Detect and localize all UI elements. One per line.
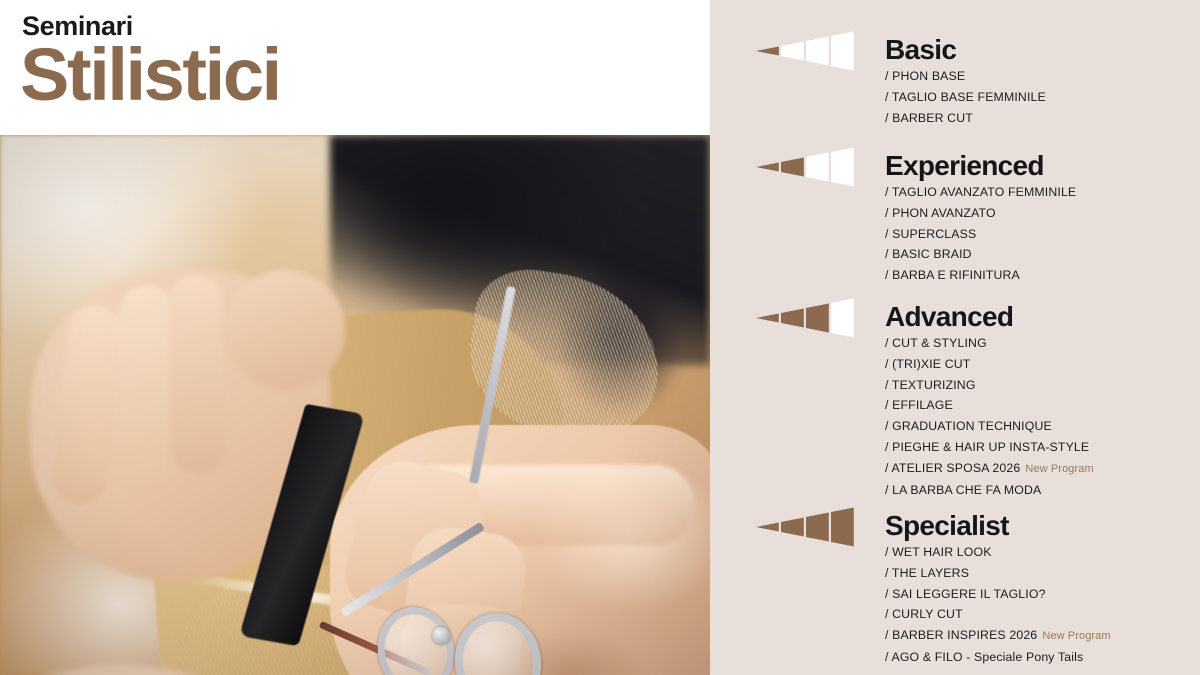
level-segment [806, 36, 829, 65]
left-column: Seminari Stilistici [0, 0, 710, 675]
level-segment [756, 313, 779, 322]
level-segment [756, 522, 779, 531]
new-program-badge: New Program [1042, 630, 1110, 642]
level-segment [831, 147, 854, 186]
photo-vignette [0, 135, 710, 675]
level-segment [781, 308, 804, 327]
course-item[interactable]: / PIEGHE & HAIR UP INSTA-STYLE [885, 437, 1094, 458]
title-block: Seminari Stilistici [0, 0, 710, 135]
level-segment [806, 512, 829, 541]
course-levels-panel: Basic/ PHON BASE/ TAGLIO BASE FEMMINILE/… [710, 0, 1200, 675]
slash-marker: / [885, 566, 892, 580]
course-item-label: CURLY CUT [892, 607, 963, 621]
course-item-label: TAGLIO AVANZATO FEMMINILE [892, 185, 1076, 199]
course-item[interactable]: / PHON BASE [885, 66, 1046, 87]
level-segment [831, 507, 854, 546]
slash-marker: / [885, 378, 892, 392]
course-item[interactable]: / BARBA E RIFINITURA [885, 265, 1076, 286]
course-item-label: BARBER INSPIRES 2026 [892, 628, 1037, 642]
course-item[interactable]: / GRADUATION TECHNIQUE [885, 416, 1094, 437]
course-item[interactable]: / SAI LEGGERE IL TAGLIO? [885, 584, 1111, 605]
level-segment [831, 298, 854, 337]
course-item-label: TAGLIO BASE FEMMINILE [892, 90, 1046, 104]
level-segment [781, 517, 804, 536]
course-item[interactable]: / TEXTURIZING [885, 375, 1094, 396]
course-item[interactable]: / BARBER CUT [885, 108, 1046, 129]
slide-root: Seminari Stilistici [0, 0, 1200, 675]
course-item-label: GRADUATION TECHNIQUE [892, 419, 1052, 433]
course-item-label: AGO & FILO - Speciale Pony Tails [891, 650, 1083, 664]
level-heading-experienced: Experienced [885, 152, 1044, 180]
level-indicator-advanced [756, 297, 856, 339]
level-segment [756, 46, 779, 55]
course-item[interactable]: / CUT & STYLING [885, 333, 1094, 354]
course-item[interactable]: / BARBER INSPIRES 2026New Program [885, 625, 1111, 647]
course-item-label: BASIC BRAID [892, 247, 972, 261]
course-item-label: TEXTURIZING [892, 378, 976, 392]
course-item-label: BARBER CUT [892, 111, 973, 125]
level-indicator-specialist [756, 506, 856, 548]
course-list-experienced: / TAGLIO AVANZATO FEMMINILE/ PHON AVANZA… [885, 182, 1076, 286]
course-item-label: PHON AVANZATO [892, 206, 996, 220]
course-item-label: (TRI)XIE CUT [892, 357, 970, 371]
level-segment [806, 152, 829, 181]
slash-marker: / [885, 90, 892, 104]
course-item[interactable]: / CURLY CUT [885, 604, 1111, 625]
level-indicator-experienced [756, 146, 856, 188]
slash-marker: / [885, 185, 892, 199]
course-list-specialist: / WET HAIR LOOK/ THE LAYERS/ SAI LEGGERE… [885, 542, 1111, 668]
course-item-label: THE LAYERS [892, 566, 969, 580]
level-segment [831, 31, 854, 70]
course-item[interactable]: / SUPERCLASS [885, 224, 1076, 245]
course-item[interactable]: / BASIC BRAID [885, 244, 1076, 265]
level-segment [756, 162, 779, 171]
course-item-label: ATELIER SPOSA 2026 [891, 461, 1020, 475]
level-segment [781, 41, 804, 60]
new-program-badge: New Program [1025, 463, 1093, 475]
course-item[interactable]: / THE LAYERS [885, 563, 1111, 584]
course-item-label: LA BARBA CHE FA MODA [892, 483, 1041, 497]
course-item[interactable]: / ATELIER SPOSA 2026New Program [885, 458, 1094, 480]
level-heading-advanced: Advanced [885, 303, 1013, 331]
level-segment [806, 303, 829, 332]
page-title: Stilistici [20, 38, 280, 112]
course-list-basic: / PHON BASE/ TAGLIO BASE FEMMINILE/ BARB… [885, 66, 1046, 128]
course-item-label: PHON BASE [892, 69, 965, 83]
course-item-label: CUT & STYLING [892, 336, 987, 350]
course-item-label: BARBA E RIFINITURA [892, 268, 1020, 282]
course-item[interactable]: / TAGLIO BASE FEMMINILE [885, 87, 1046, 108]
course-item[interactable]: / TAGLIO AVANZATO FEMMINILE [885, 182, 1076, 203]
course-item[interactable]: / EFFILAGE [885, 395, 1094, 416]
course-list-advanced: / CUT & STYLING/ (TRI)XIE CUT/ TEXTURIZI… [885, 333, 1094, 500]
hero-photo [0, 135, 710, 675]
level-heading-basic: Basic [885, 36, 956, 64]
level-heading-specialist: Specialist [885, 512, 1009, 540]
course-item-label: PIEGHE & HAIR UP INSTA-STYLE [892, 440, 1089, 454]
level-segment [781, 157, 804, 176]
course-item[interactable]: / PHON AVANZATO [885, 203, 1076, 224]
course-item-label: EFFILAGE [892, 398, 953, 412]
level-indicator-basic [756, 30, 856, 72]
course-item[interactable]: / (TRI)XIE CUT [885, 354, 1094, 375]
course-item-label: SAI LEGGERE IL TAGLIO? [892, 587, 1045, 601]
course-item[interactable]: / LA BARBA CHE FA MODA [885, 480, 1094, 501]
course-item-label: WET HAIR LOOK [892, 545, 991, 559]
course-item[interactable]: / WET HAIR LOOK [885, 542, 1111, 563]
course-item[interactable]: / AGO & FILO - Speciale Pony Tails [885, 647, 1111, 668]
course-item-label: SUPERCLASS [892, 227, 976, 241]
